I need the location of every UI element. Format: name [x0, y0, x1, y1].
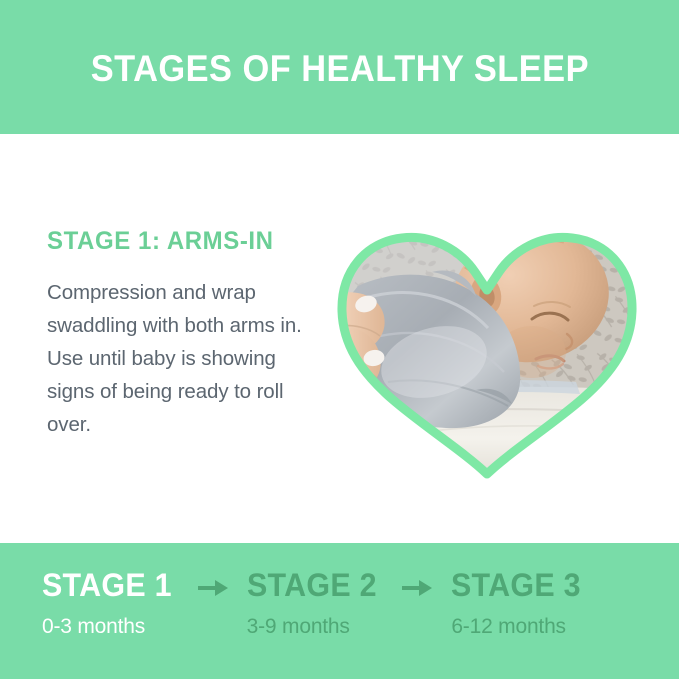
heart-photo-content: [336, 176, 638, 481]
stage-step-1-title: STAGE 1: [42, 569, 172, 601]
header-banner: STAGES OF HEALTHY SLEEP: [0, 0, 679, 134]
arrow-right-icon: [400, 578, 434, 598]
stage-progress-list: STAGE 1 0-3 months STAGE 2 3-9 months ST…: [42, 569, 588, 637]
stage-step-3[interactable]: STAGE 3 6-12 months: [451, 569, 588, 637]
stage-description-block: STAGE 1: ARMS-IN Compression and wrap sw…: [47, 229, 315, 441]
stage-step-1[interactable]: STAGE 1 0-3 months: [42, 569, 179, 637]
infographic-page: STAGES OF HEALTHY SLEEP STAGE 1: ARMS-IN…: [0, 0, 679, 679]
stage-step-2[interactable]: STAGE 2 3-9 months: [247, 569, 384, 637]
stage-step-1-subtitle: 0-3 months: [42, 616, 145, 637]
main-content: STAGE 1: ARMS-IN Compression and wrap sw…: [0, 134, 679, 543]
stage-progress-footer: STAGE 1 0-3 months STAGE 2 3-9 months ST…: [0, 543, 679, 679]
stage-step-2-title: STAGE 2: [247, 569, 377, 601]
stage-step-3-title: STAGE 3: [451, 569, 581, 601]
arrow-right-icon: [196, 578, 230, 598]
stage-description-text: Compression and wrap swaddling with both…: [47, 276, 315, 441]
stage-step-3-subtitle: 6-12 months: [451, 616, 566, 637]
heart-photo-svg: [336, 176, 638, 481]
stage-heading: STAGE 1: ARMS-IN: [47, 229, 304, 254]
page-title: STAGES OF HEALTHY SLEEP: [90, 50, 588, 87]
heart-photo: [336, 176, 638, 481]
stage-step-2-subtitle: 3-9 months: [247, 616, 350, 637]
